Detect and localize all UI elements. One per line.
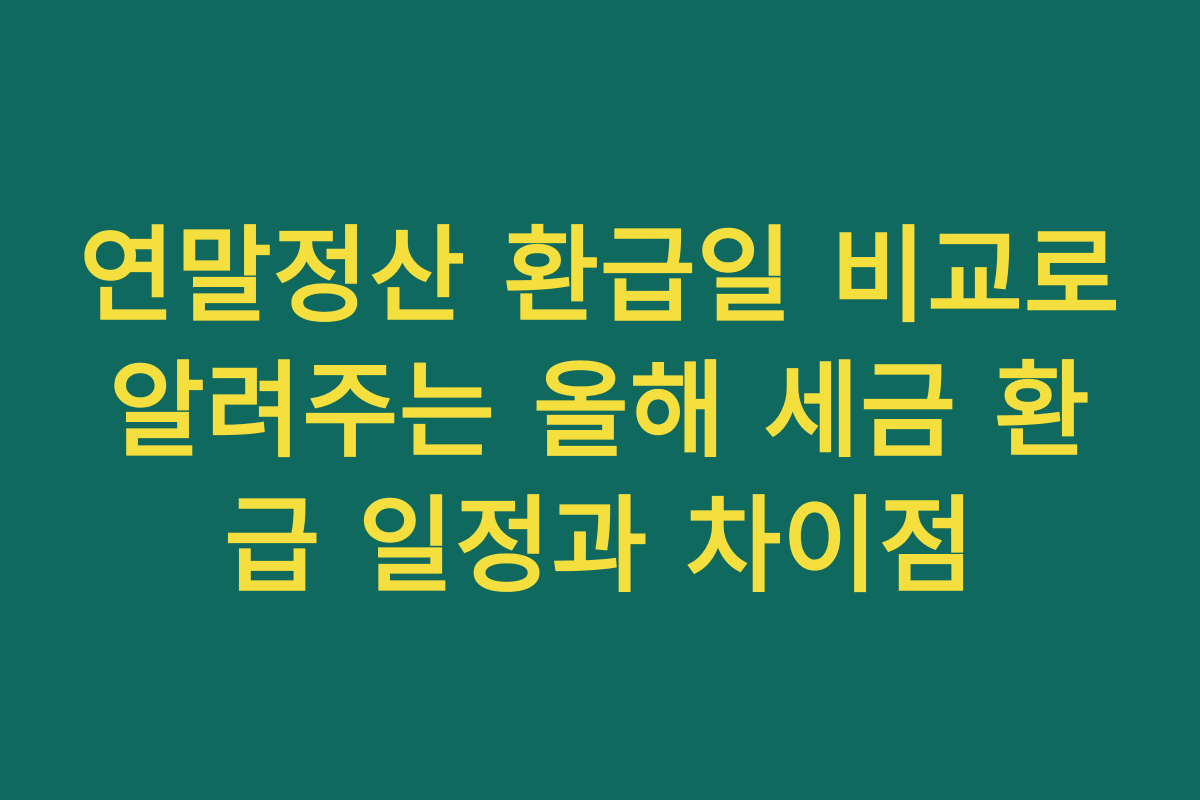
title-line-2: 알려주는 올해 세금 환 [70, 344, 1130, 479]
page-title: 연말정산 환급일 비교로 알려주는 올해 세금 환 급 일정과 차이점 [70, 209, 1130, 614]
title-card: 연말정산 환급일 비교로 알려주는 올해 세금 환 급 일정과 차이점 [0, 0, 1200, 800]
title-line-3: 급 일정과 차이점 [70, 479, 1130, 614]
title-line-1: 연말정산 환급일 비교로 [70, 209, 1130, 344]
